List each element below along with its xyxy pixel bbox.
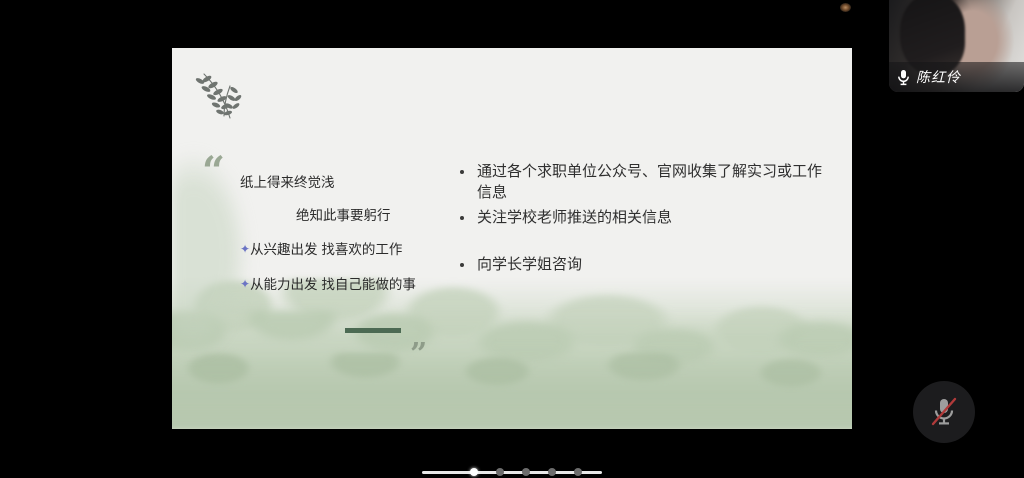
leaf-sprig-icon xyxy=(194,68,248,124)
list-item: 通过各个求职单位公众号、官网收集了解实习或工作信息 xyxy=(455,161,823,204)
mute-button[interactable] xyxy=(913,381,975,443)
quote-close-mark: ” xyxy=(410,340,427,370)
pager-dot-3[interactable] xyxy=(522,468,530,476)
shared-slide[interactable]: “ ” 纸上得来终觉浅 绝知此事要躬行 ✦从兴趣出发 找喜欢的工作 ✦从能力出发… xyxy=(172,48,852,429)
poem-line-2: 绝知此事要躬行 xyxy=(240,206,440,227)
star-item-2: ✦从能力出发 找自己能做的事 xyxy=(240,275,440,296)
slide-page-indicator[interactable] xyxy=(422,466,602,478)
star-bullet-icon: ✦ xyxy=(240,277,250,291)
slide-right-column: 通过各个求职单位公众号、官网收集了解实习或工作信息 关注学校老师推送的相关信息 … xyxy=(455,161,823,278)
pager-dot-4[interactable] xyxy=(548,468,556,476)
meeting-stage: “ ” 纸上得来终觉浅 绝知此事要躬行 ✦从兴趣出发 找喜欢的工作 ✦从能力出发… xyxy=(0,0,1024,478)
poem-line-1: 纸上得来终觉浅 xyxy=(240,173,440,194)
watercolor-layer-front xyxy=(172,353,852,429)
star-item-1: ✦从兴趣出发 找喜欢的工作 xyxy=(240,240,440,261)
microphone-muted-icon xyxy=(929,395,959,429)
participant-name-label: 陈红伶 xyxy=(916,67,961,87)
participant-name-bar: 陈红伶 xyxy=(889,62,1024,92)
list-item: 向学长学姐咨询 xyxy=(455,254,823,275)
bullet-list: 通过各个求职单位公众号、官网收集了解实习或工作信息 关注学校老师推送的相关信息 … xyxy=(455,161,823,275)
watercolor-layer-back xyxy=(172,279,852,429)
camera-led-icon xyxy=(840,3,851,12)
list-item: 关注学校老师推送的相关信息 xyxy=(455,207,823,228)
green-divider-rule xyxy=(345,328,401,333)
star-bullet-icon: ✦ xyxy=(240,242,250,256)
pager-dot-2[interactable] xyxy=(496,468,504,476)
quote-open-mark: “ xyxy=(202,152,225,192)
bullet-label-3: 向学长学姐咨询 xyxy=(477,256,582,273)
watercolor-layer-mid xyxy=(172,311,852,429)
bullet-label-2: 关注学校老师推送的相关信息 xyxy=(477,209,672,226)
pager-dot-5[interactable] xyxy=(574,468,582,476)
star-item-1-label: 从兴趣出发 找喜欢的工作 xyxy=(250,242,402,257)
bullet-label-1: 通过各个求职单位公众号、官网收集了解实习或工作信息 xyxy=(477,163,822,201)
participant-video-thumbnail[interactable]: 陈红伶 xyxy=(889,0,1024,92)
star-item-2-label: 从能力出发 找自己能做的事 xyxy=(250,277,416,292)
slide-left-column: 纸上得来终觉浅 绝知此事要躬行 ✦从兴趣出发 找喜欢的工作 ✦从能力出发 找自己… xyxy=(240,173,440,295)
microphone-icon xyxy=(897,69,910,86)
pager-dot-1[interactable] xyxy=(470,468,478,476)
